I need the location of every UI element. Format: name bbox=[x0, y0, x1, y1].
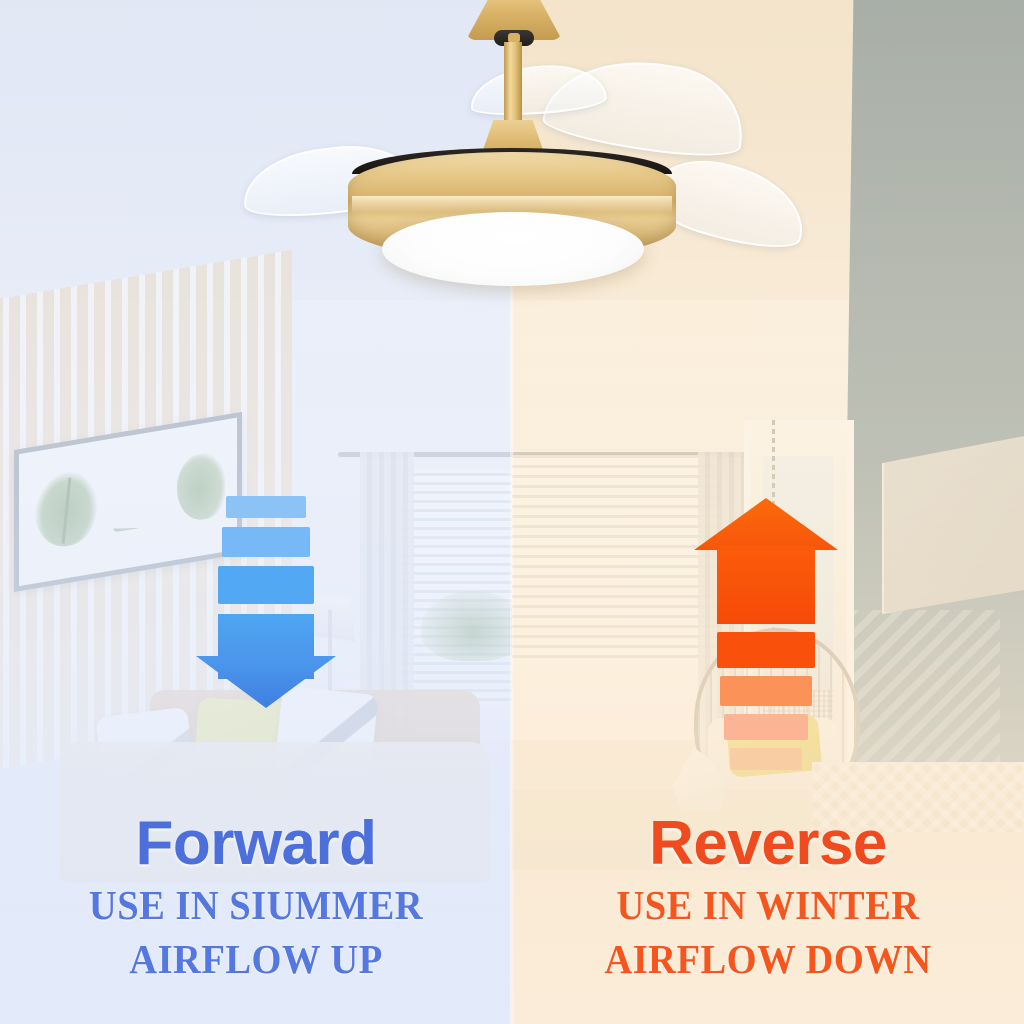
airflow-segment bbox=[724, 714, 808, 740]
window-blinds-left bbox=[399, 473, 512, 703]
arrow-shaft bbox=[717, 546, 815, 624]
airflow-arrow-up bbox=[716, 498, 816, 718]
headline-forward: Forward bbox=[0, 812, 512, 875]
subline-airflow-up: AIRFLOW UP bbox=[15, 937, 496, 983]
airflow-segment bbox=[717, 632, 815, 668]
subline-use-in-summer: USE IN SIUMMER bbox=[15, 883, 496, 929]
ceiling-fan bbox=[0, 0, 1024, 330]
subline-use-in-winter: USE IN WINTER bbox=[527, 883, 1008, 929]
fan-motor-band bbox=[352, 196, 672, 212]
window-right bbox=[512, 455, 722, 665]
airflow-segment bbox=[222, 527, 310, 557]
caption-left: Forward USE IN SIUMMER AIRFLOW UP bbox=[0, 812, 512, 983]
palm-leaf-icon bbox=[113, 462, 165, 533]
infographic-canvas: Forward USE IN SIUMMER AIRFLOW UP Revers… bbox=[0, 0, 1024, 1024]
caption-right: Reverse USE IN WINTER AIRFLOW DOWN bbox=[512, 812, 1024, 983]
airflow-segment bbox=[226, 496, 306, 518]
outdoor-foliage bbox=[421, 591, 512, 661]
airflow-segment bbox=[218, 566, 314, 604]
monstera-leaf-icon bbox=[35, 467, 97, 551]
window-blinds-right bbox=[512, 455, 722, 665]
airflow-arrow-down bbox=[218, 496, 314, 696]
airflow-segment bbox=[730, 748, 802, 770]
headline-reverse: Reverse bbox=[512, 812, 1024, 875]
fan-led-light-dome bbox=[382, 212, 644, 286]
subline-airflow-down: AIRFLOW DOWN bbox=[527, 937, 1008, 983]
airflow-segment bbox=[720, 676, 812, 706]
